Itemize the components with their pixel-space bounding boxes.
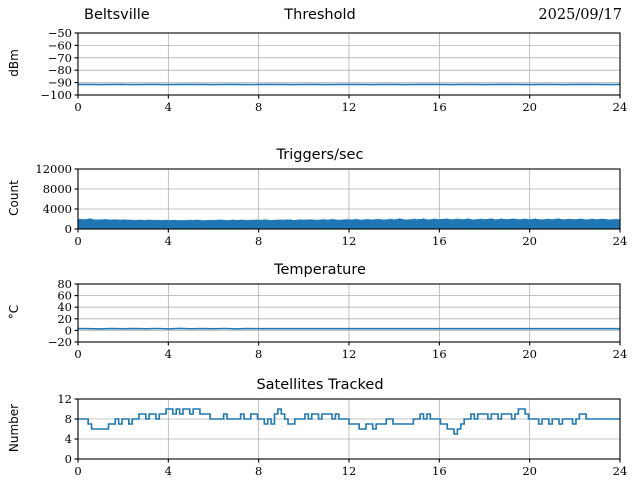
- y-tick-label: 8000: [43, 182, 72, 196]
- panel-threshold: dBm−100−90−80−70−60−5004812162024: [0, 27, 640, 133]
- y-tick-label: 0: [65, 222, 72, 236]
- x-tick-label: 12: [342, 347, 357, 361]
- x-tick-label: 20: [522, 464, 537, 477]
- x-tick-label: 8: [255, 464, 262, 477]
- y-tick-label: 4: [65, 432, 72, 446]
- x-tick-label: 24: [613, 100, 628, 114]
- x-tick-label: 0: [74, 234, 81, 247]
- y-tick-label: 12: [57, 392, 72, 406]
- y-axis-label: Count: [7, 168, 21, 228]
- x-tick-label: 8: [255, 100, 262, 114]
- x-tick-label: 12: [342, 100, 357, 114]
- x-tick-label: 16: [432, 464, 447, 477]
- panel-title: Temperature: [0, 262, 640, 278]
- y-tick-label: −50: [48, 27, 72, 40]
- y-tick-label: 12000: [35, 162, 72, 176]
- x-tick-label: 20: [522, 347, 537, 361]
- figure-header: Beltsville Threshold 2025/09/17: [0, 7, 640, 27]
- panel-triggers: Triggers/secCount04000800012000048121620…: [0, 147, 640, 253]
- x-tick-label: 24: [613, 464, 628, 477]
- x-tick-label: 8: [255, 347, 262, 361]
- y-tick-label: 4000: [43, 202, 72, 216]
- x-tick-label: 0: [74, 100, 81, 114]
- x-tick-label: 4: [165, 234, 172, 247]
- y-tick-label: −100: [40, 88, 72, 102]
- observation-date: 2025/09/17: [538, 7, 622, 23]
- x-tick-label: 20: [522, 234, 537, 247]
- panel-satellites: Satellites TrackedNumber0481204812162024: [0, 377, 640, 483]
- x-tick-label: 12: [342, 464, 357, 477]
- figure-canvas: Beltsville Threshold 2025/09/17 dBm−100−…: [0, 0, 640, 480]
- y-axis-label: °C: [7, 283, 21, 341]
- y-tick-label: −60: [48, 38, 72, 52]
- y-axis-label: dBm: [7, 32, 21, 94]
- x-tick-label: 0: [74, 347, 81, 361]
- x-tick-label: 4: [165, 100, 172, 114]
- x-tick-label: 12: [342, 234, 357, 247]
- y-tick-label: −80: [48, 63, 72, 77]
- x-tick-label: 16: [432, 100, 447, 114]
- y-tick-label: 0: [65, 452, 72, 466]
- x-tick-label: 0: [74, 464, 81, 477]
- x-tick-label: 24: [613, 234, 628, 247]
- x-tick-label: 16: [432, 234, 447, 247]
- panel-temperature: Temperature°C−2002040608004812162024: [0, 262, 640, 368]
- x-tick-label: 4: [165, 464, 172, 477]
- x-tick-label: 8: [255, 234, 262, 247]
- panel-title: Satellites Tracked: [0, 377, 640, 393]
- y-tick-label: −90: [48, 76, 72, 90]
- x-tick-label: 4: [165, 347, 172, 361]
- y-tick-label: −70: [48, 51, 72, 65]
- y-axis-label: Number: [7, 398, 21, 458]
- x-tick-label: 20: [522, 100, 537, 114]
- y-tick-label: 8: [65, 412, 72, 426]
- panel-title: Triggers/sec: [0, 147, 640, 163]
- x-tick-label: 24: [613, 347, 628, 361]
- y-tick-label: 80: [57, 277, 72, 291]
- plot-area: −100−90−80−70−60−5004812162024: [0, 27, 640, 127]
- x-tick-label: 16: [432, 347, 447, 361]
